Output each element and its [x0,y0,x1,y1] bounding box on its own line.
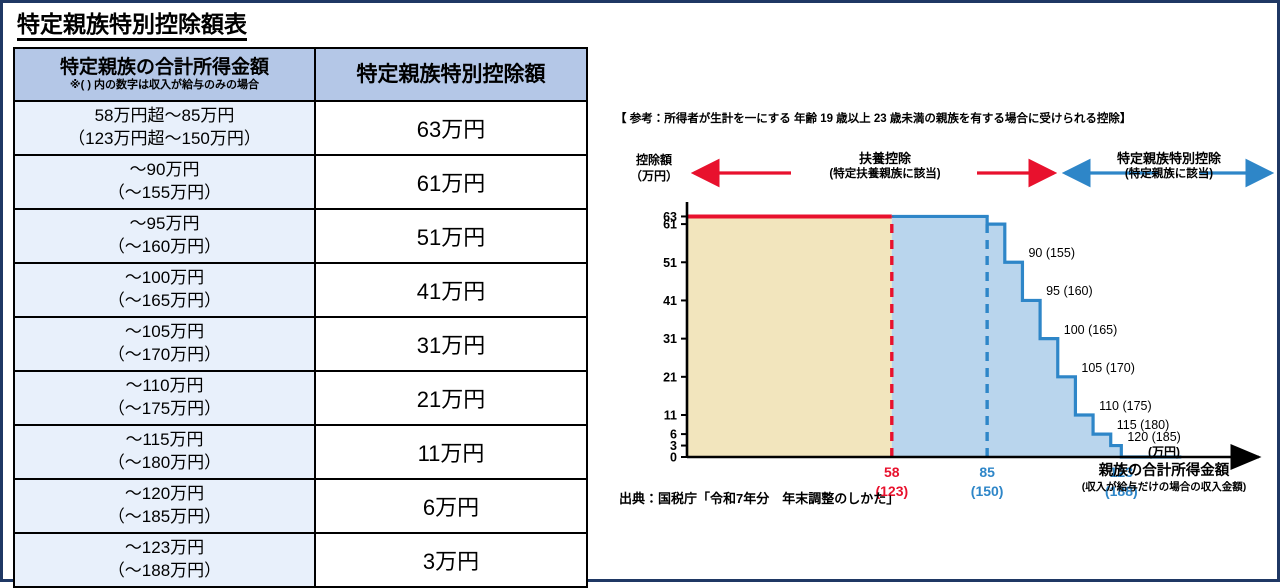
income-range-primary: 58万円超〜85万円 [95,106,235,125]
table-cell-income: 〜90万円（〜155万円） [14,155,315,209]
table-row: 〜100万円（〜165万円）41万円 [14,263,587,317]
step-label-100: 100 (165) [1064,323,1118,337]
income-range-primary: 〜115万円 [125,430,203,449]
table-row: 〜115万円（〜180万円）11万円 [14,425,587,479]
chart-legend: 控除額 （万円） 扶養控除 (特定扶養親族に該当) 特定親族特別控除 (特定親族… [599,151,1275,197]
page-root: 特定親族特別控除額表 特定親族の合計所得金額 ※( ) 内の数字は収入が給与のみ… [0,0,1280,582]
table-cell-income: 〜115万円（〜180万円） [14,425,315,479]
table-header-income-main: 特定親族の合計所得金額 [15,58,314,79]
x-tick-label-85: 85(150) [942,463,1032,501]
x-tick-sublabel: (150) [942,482,1032,501]
income-range-salary: （〜185万円） [15,506,314,529]
legend-item-fuyou: 扶養控除 (特定扶養親族に該当) [797,151,973,182]
table-row: 〜110万円（〜175万円）21万円 [14,371,587,425]
x-tick-value: 85 [942,463,1032,482]
deduction-table: 特定親族の合計所得金額 ※( ) 内の数字は収入が給与のみの場合 特定親族特別控… [13,47,588,588]
table-row: 〜120万円（〜185万円）6万円 [14,479,587,533]
legend-y-axis-title: 控除額 [623,153,685,169]
step-label-120: 120 (185) [1127,430,1181,444]
income-range-primary: 〜123万円 [125,538,204,557]
table-header-income-note: ※( ) 内の数字は収入が給与のみの場合 [15,79,314,91]
income-range-salary: （〜188万円） [15,560,314,583]
income-range-primary: 〜110万円 [125,376,203,395]
deduction-table-wrapper: 特定親族の合計所得金額 ※( ) 内の数字は収入が給与のみの場合 特定親族特別控… [13,47,586,588]
step-label-110: 110 (175) [1099,399,1152,413]
x-axis-unit: (万円) [1059,445,1269,461]
page-title: 特定親族特別控除額表 [17,11,247,41]
x-axis-main: 親族の合計所得金額 [1059,462,1269,481]
legend-y-axis-unit: （万円） [623,169,685,185]
income-range-salary: （〜165万円） [15,290,314,313]
table-cell-income: 〜123万円（〜188万円） [14,533,315,587]
table-cell-income: 〜100万円（〜165万円） [14,263,315,317]
income-range-primary: 〜100万円 [125,268,204,287]
table-header-income: 特定親族の合計所得金額 ※( ) 内の数字は収入が給与のみの場合 [14,48,315,101]
step-chart: 03611213141516163 58(123)85(150)123(188)… [599,195,1275,495]
income-range-salary: （〜175万円） [15,398,314,421]
income-range-primary: 〜120万円 [125,484,204,503]
income-range-salary: （〜170万円） [15,344,314,367]
step-label-105: 105 (170) [1081,361,1135,375]
x-axis-name: (万円) 親族の合計所得金額 (収入が給与だけの場合の収入金額) [1059,445,1269,495]
table-cell-deduction: 11万円 [315,425,587,479]
table-cell-deduction: 3万円 [315,533,587,587]
table-header-deduction: 特定親族特別控除額 [315,48,587,101]
table-cell-deduction: 21万円 [315,371,587,425]
income-range-salary: （123万円超〜150万円） [15,128,314,151]
income-range-primary: 〜105万円 [125,322,204,341]
income-range-salary: （〜155万円） [15,182,314,205]
table-cell-income: 〜120万円（〜185万円） [14,479,315,533]
step-label-95: 95 (160) [1046,284,1093,298]
source-note: 出典：国税庁「令和7年分 年末調整のしかた」 [619,488,899,507]
table-cell-deduction: 63万円 [315,101,587,155]
table-header-deduction-main: 特定親族特別控除額 [316,63,586,86]
step-label-90: 90 (155) [1028,246,1075,260]
table-row: 〜123万円（〜188万円）3万円 [14,533,587,587]
x-axis-sub: (収入が給与だけの場合の収入金額) [1059,481,1269,495]
table-cell-income: 〜110万円（〜175万円） [14,371,315,425]
table-cell-income: 〜95万円（〜160万円） [14,209,315,263]
legend-tokutei-title: 特定親族特別控除 [1069,151,1269,167]
table-row: 〜105万円（〜170万円）31万円 [14,317,587,371]
table-cell-deduction: 6万円 [315,479,587,533]
x-tick-value: 58 [847,463,937,482]
income-range-salary: （〜180万円） [15,452,314,475]
legend-y-axis-name: 控除額 （万円） [623,153,685,184]
income-range-salary: （〜160万円） [15,236,314,259]
chart-panel: 【 参考：所得者が生計を一にする 年齢 19 歳以上 23 歳未満の親族を有する… [599,47,1275,577]
table-cell-income: 58万円超〜85万円（123万円超〜150万円） [14,101,315,155]
table-cell-deduction: 51万円 [315,209,587,263]
legend-fuyou-sub: (特定扶養親族に該当) [797,167,973,181]
legend-fuyou-title: 扶養控除 [797,151,973,167]
table-cell-deduction: 41万円 [315,263,587,317]
income-range-primary: 〜95万円 [130,214,200,233]
legend-tokutei-sub: (特定親族に該当) [1069,167,1269,181]
table-row: 〜90万円（〜155万円）61万円 [14,155,587,209]
table-cell-deduction: 61万円 [315,155,587,209]
table-body: 58万円超〜85万円（123万円超〜150万円）63万円〜90万円（〜155万円… [14,101,587,587]
chart-caption: 【 参考：所得者が生計を一にする 年齢 19 歳以上 23 歳未満の親族を有する… [615,110,1131,126]
income-range-primary: 〜90万円 [130,160,200,179]
legend-item-tokutei: 特定親族特別控除 (特定親族に該当) [1069,151,1269,182]
table-cell-income: 〜105万円（〜170万円） [14,317,315,371]
table-cell-deduction: 31万円 [315,317,587,371]
table-header-row: 特定親族の合計所得金額 ※( ) 内の数字は収入が給与のみの場合 特定親族特別控… [14,48,587,101]
table-row: 58万円超〜85万円（123万円超〜150万円）63万円 [14,101,587,155]
table-row: 〜95万円（〜160万円）51万円 [14,209,587,263]
